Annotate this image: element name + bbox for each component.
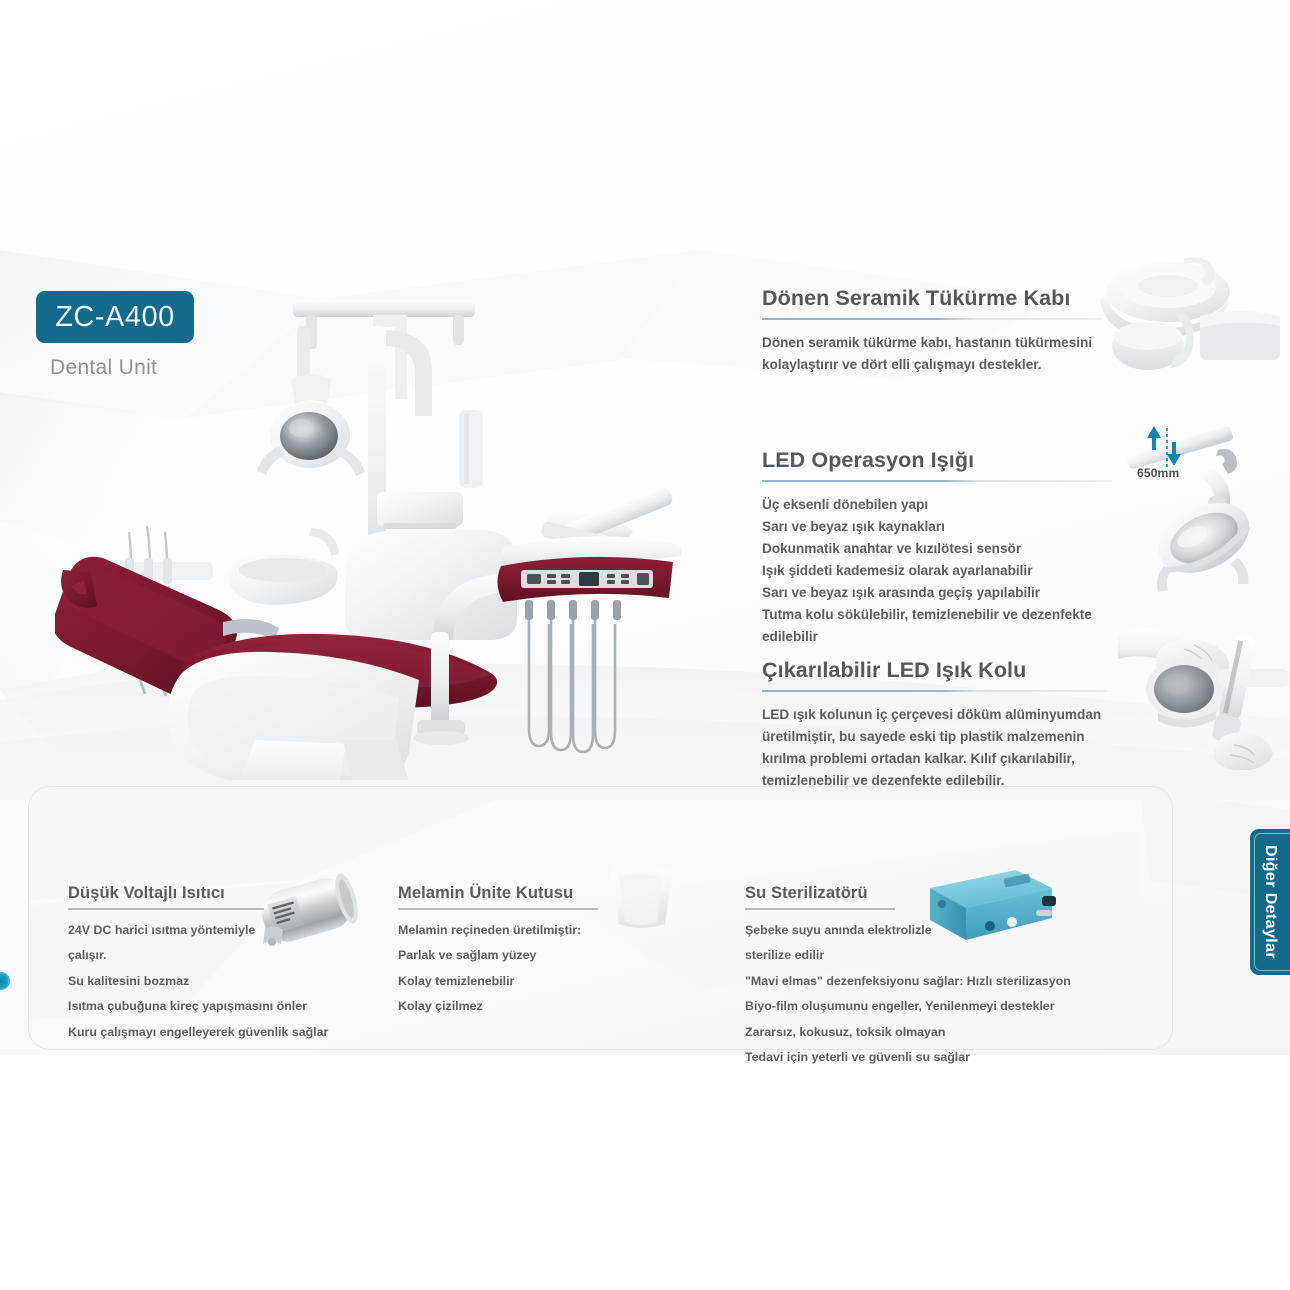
detail-line: Zararsız, kokusuz, toksik olmayan xyxy=(745,1020,1075,1045)
detail-line: Isıtma çubuğuna kireç yapışmasını önler xyxy=(68,994,368,1019)
feature-line: Tutma kolu sökülebilir, temizlenebilir v… xyxy=(762,604,1112,626)
feature-led-light: LED Operasyon Işığı Üç eksenli dönebilen… xyxy=(762,448,1112,648)
feature-line: kolaylaştırır ve dört elli çalışmayı des… xyxy=(762,354,1102,376)
feature-line: Üç eksenli dönebilen yapı xyxy=(762,494,1112,516)
detail-title: Su Sterilizatörü xyxy=(745,884,1075,903)
feature-divider xyxy=(762,480,1112,482)
feature-title: Çıkarılabilir LED Işık Kolu xyxy=(762,658,1107,683)
detail-divider xyxy=(68,908,264,910)
detail-line: Kuru çalışmayı engelleyerek güvenlik sağ… xyxy=(68,1020,368,1045)
feature-body: LED ışık kolunun iç çerçevesi döküm alüm… xyxy=(762,704,1107,792)
model-badge: ZC-A400 xyxy=(36,291,194,343)
detail-line: Kolay çizilmez xyxy=(398,994,698,1019)
detail-body: Şebeke suyu anında elektrolizle steriliz… xyxy=(745,918,1075,1071)
detail-column-heater: Düşük Voltajlı Isıtıcı 24V DC harici ısı… xyxy=(68,884,368,1045)
detail-column-melamine: Melamin Ünite Kutusu Melamin reçineden ü… xyxy=(398,884,698,1020)
detail-line: "Mavi elmas" dezenfeksiyonu sağlar: Hızl… xyxy=(745,969,1075,994)
detail-line: çalışır. xyxy=(68,943,368,968)
edge-accent-dot xyxy=(0,972,10,990)
detail-line: Biyo-film oluşumunu engeller, Yenilenmey… xyxy=(745,994,1075,1019)
ceramic-spittoon-photo xyxy=(1088,250,1288,400)
feature-divider xyxy=(762,318,1102,320)
feature-title: LED Operasyon Işığı xyxy=(762,448,1112,473)
detail-line: Kolay temizlenebilir xyxy=(398,969,698,994)
feature-line: Işık şiddeti kademesiz olarak ayarlanabi… xyxy=(762,560,1112,582)
led-operation-light-photo xyxy=(1120,420,1290,605)
feature-led-handle: Çıkarılabilir LED Işık Kolu LED ışık kol… xyxy=(762,658,1107,792)
feature-body: Dönen seramik tükürme kabı, hastanın tük… xyxy=(762,332,1102,376)
detail-line: Melamin reçineden üretilmiştir: xyxy=(398,918,698,943)
detail-line: sterilize edilir xyxy=(745,943,1075,968)
feature-line: LED ışık kolunun iç çerçevesi döküm alüm… xyxy=(762,704,1107,726)
product-category-label: Dental Unit xyxy=(50,356,157,380)
detail-line: 24V DC harici ısıtma yöntemiyle xyxy=(68,918,368,943)
detail-body: Melamin reçineden üretilmiştir: Parlak v… xyxy=(398,918,698,1020)
feature-body: Üç eksenli dönebilen yapı Sarı ve beyaz … xyxy=(762,494,1112,648)
led-height-callout: 650mm xyxy=(1137,466,1179,480)
detail-title: Düşük Voltajlı Isıtıcı xyxy=(68,884,368,903)
detail-line: Şebeke suyu anında elektrolizle xyxy=(745,918,1075,943)
feature-divider xyxy=(762,690,1107,692)
side-tab-label: Diğer Detaylar xyxy=(1261,845,1279,959)
detail-divider xyxy=(745,908,895,910)
feature-spittoon: Dönen Seramik Tükürme Kabı Dönen seramik… xyxy=(762,286,1102,376)
feature-line: kırılma problemi ortadan kalkar. Kılıf ç… xyxy=(762,748,1107,770)
brochure-page: 650mm xyxy=(0,0,1290,1290)
feature-line: Dönen seramik tükürme kabı, hastanın tük… xyxy=(762,332,1102,354)
detail-column-sterilizer: Su Sterilizatörü Şebeke suyu anında elek… xyxy=(745,884,1075,1071)
feature-line: Sarı ve beyaz ışık kaynakları xyxy=(762,516,1112,538)
detail-line: Parlak ve sağlam yüzey xyxy=(398,943,698,968)
dental-chair-unit-photo xyxy=(55,270,745,780)
feature-title: Dönen Seramik Tükürme Kabı xyxy=(762,286,1102,311)
feature-line: Sarı ve beyaz ışık arasında geçiş yapıla… xyxy=(762,582,1112,604)
feature-line: üretilmiştir, bu sayede eski tip plastik… xyxy=(762,726,1107,748)
detail-body: 24V DC harici ısıtma yöntemiyle çalışır.… xyxy=(68,918,368,1045)
feature-line: edilebilir xyxy=(762,626,1112,648)
removable-led-handle-photo xyxy=(1118,625,1290,770)
other-details-tab[interactable]: Diğer Detaylar xyxy=(1250,829,1290,975)
detail-line: Su kalitesini bozmaz xyxy=(68,969,368,994)
detail-divider xyxy=(398,908,598,910)
detail-title: Melamin Ünite Kutusu xyxy=(398,884,698,903)
detail-line: Tedavi için yeterli ve güvenli su sağlar xyxy=(745,1045,1075,1070)
feature-line: Dokunmatik anahtar ve kızılötesi sensör xyxy=(762,538,1112,560)
model-badge-label: ZC-A400 xyxy=(55,301,175,334)
